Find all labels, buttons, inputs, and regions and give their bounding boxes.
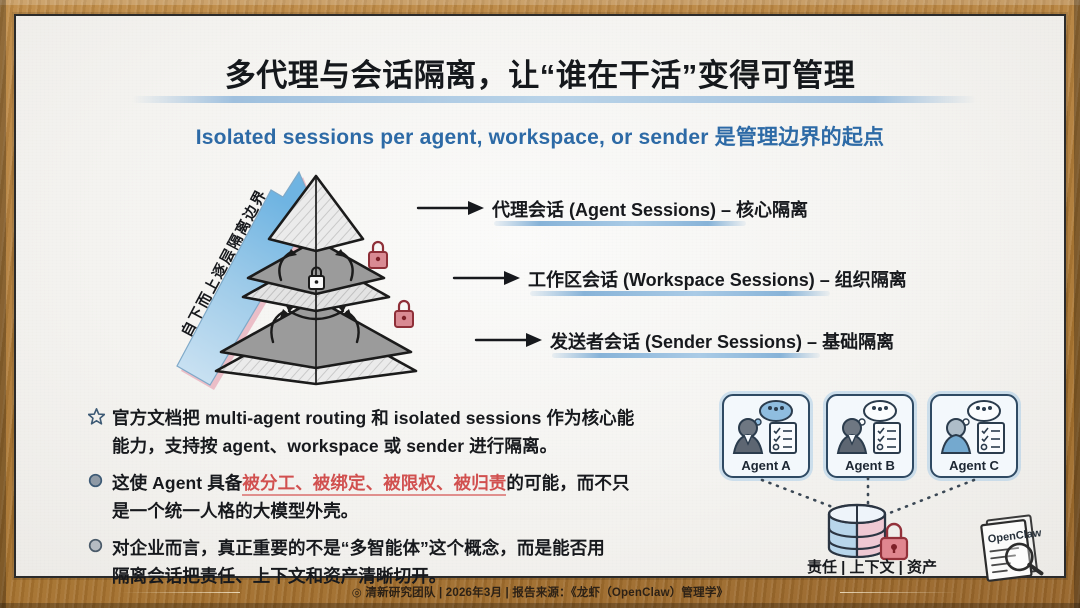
bullet-3-line-1: 对企业而言，真正重要的不是“多智能体”这个概念，而是能否用 (112, 538, 605, 558)
bullet-text: 这使 Agent 具备被分工、被绑定、被限权、被归责的可能，而不只 是一个统一人… (112, 469, 630, 525)
tier-arrow-2 (452, 266, 522, 288)
agent-card-b[interactable]: Agent B (826, 394, 914, 478)
bullet-2-highlight: 被分工、被绑定、被限权、被归责 (242, 473, 506, 496)
bullet-list: 官方文档把 multi-agent routing 和 isolated ses… (88, 404, 728, 599)
agent-card-label: Agent A (724, 458, 808, 473)
bullet-1-line-2: 能力，支持按 agent、workspace 或 sender 进行隔离。 (112, 436, 557, 456)
agent-card-group: Agent A (722, 394, 1018, 482)
wooden-frame: 多代理与会话隔离，让“谁在干活”变得可管理 Isolated sessions … (0, 0, 1080, 608)
circle-bullet-icon (88, 534, 112, 558)
bullet-1-line-1: 官方文档把 multi-agent routing 和 isolated ses… (112, 408, 634, 428)
tier-label-sender-sessions: 发送者会话 (Sender Sessions) – 基础隔离 (550, 328, 894, 354)
tier-label-workspace-sessions: 工作区会话 (Workspace Sessions) – 组织隔离 (528, 266, 907, 292)
list-item: 官方文档把 multi-agent routing 和 isolated ses… (88, 404, 728, 460)
tier-underline-3 (552, 353, 820, 358)
agent-card-c[interactable]: Agent C (930, 394, 1018, 478)
page-title: 多代理与会话隔离，让“谁在干活”变得可管理 (16, 50, 1064, 95)
star-bullet-icon (88, 404, 112, 430)
database-lock-icon (811, 502, 931, 564)
list-item: 这使 Agent 具备被分工、被绑定、被限权、被归责的可能，而不只 是一个统一人… (88, 469, 728, 525)
bullet-2-line-1-a: 这使 Agent 具备 (112, 473, 242, 493)
tier-underline-2 (530, 291, 830, 296)
footer-rule-left (120, 592, 240, 593)
tier-label-agent-sessions: 代理会话 (Agent Sessions) – 核心隔离 (492, 196, 808, 222)
agent-avatar-icon (932, 398, 1020, 458)
agent-card-a[interactable]: Agent A (722, 394, 810, 478)
agent-avatar-icon (828, 398, 916, 458)
slide-canvas: 多代理与会话隔离，让“谁在干活”变得可管理 Isolated sessions … (16, 16, 1064, 576)
slide-bevel: 多代理与会话隔离，让“谁在干活”变得可管理 Isolated sessions … (14, 14, 1066, 578)
footer-text: ◎ 清新研究团队 | 2026年3月 | 报告来源：《龙虾（OpenClaw）管… (352, 584, 729, 600)
tier-arrow-1 (416, 196, 486, 218)
agent-avatar-icon (724, 398, 812, 458)
subtitle-chinese: 是管理边界的起点 (715, 126, 885, 149)
subtitle-english: Isolated sessions per agent, workspace, … (196, 126, 715, 149)
footer-bar: ◎ 清新研究团队 | 2026年3月 | 报告来源：《龙虾（OpenClaw）管… (0, 581, 1080, 603)
agent-card-label: Agent B (828, 458, 912, 473)
pyramid-diagram: 自下而上逐层隔离边界 (161, 156, 461, 391)
tier-underline-1 (494, 221, 746, 226)
tier-padlock-icon-lower (395, 301, 413, 327)
database-caption: 责任 | 上下文 | 资产 (772, 556, 972, 577)
circle-bullet-icon (88, 469, 112, 493)
bullet-text: 官方文档把 multi-agent routing 和 isolated ses… (112, 404, 634, 460)
tier-arrow-3 (474, 328, 544, 350)
bullet-2-line-2: 是一个统一人格的大模型外壳。 (112, 501, 358, 521)
footer-rule-right (840, 592, 960, 593)
agent-card-label: Agent C (932, 458, 1016, 473)
page-subtitle: Isolated sessions per agent, workspace, … (16, 121, 1064, 151)
bullet-2-line-1-b: 的可能，而不只 (506, 473, 629, 493)
tier-padlock-icon-upper (369, 242, 387, 268)
title-underline (132, 96, 976, 103)
document-magnifier-icon: OpenClaw (970, 510, 1050, 584)
